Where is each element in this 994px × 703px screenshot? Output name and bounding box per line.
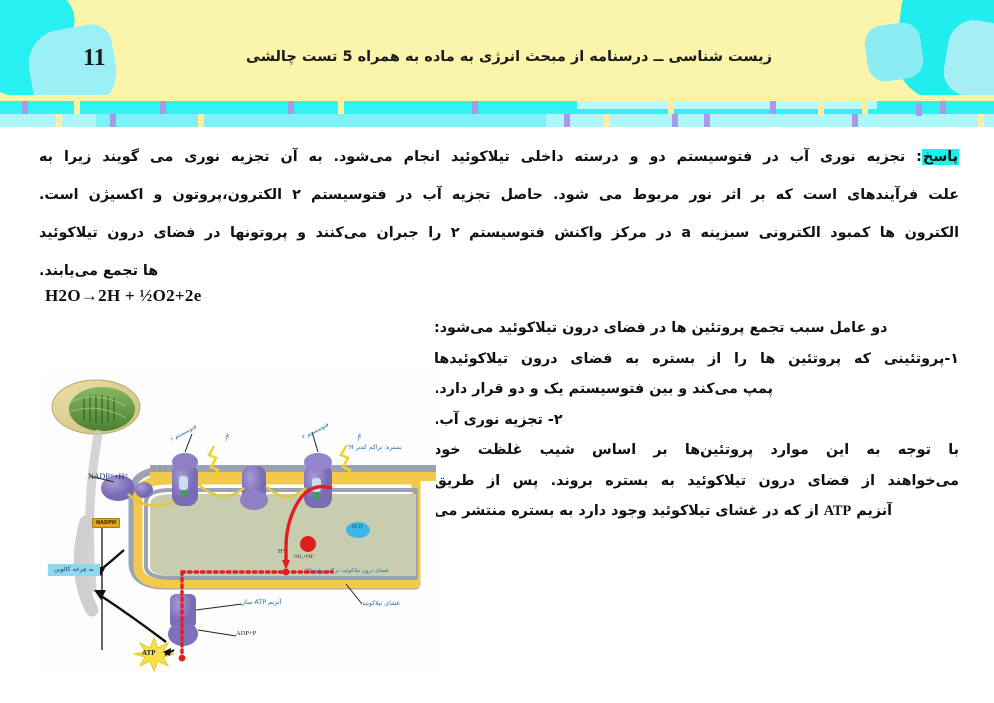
thylakoid-membrane-label: غشای تیلاکوئید — [362, 600, 400, 607]
answer-line-2: علت فرآیندهای است که بر اثر نور مربوط می… — [39, 176, 959, 214]
band-tick — [770, 101, 776, 114]
page-title: زیست شناسی ــ درسنامه از مبحث انرژی به م… — [229, 49, 789, 65]
thylakoid-diagram: NADP⁺+H⁺ NADPH به چرخه کالوین فتوسیستم ۱… — [46, 372, 436, 672]
cytochrome-complex — [240, 466, 268, 510]
stroma-label: بستره: تراکم کمتر H⁺ — [346, 444, 402, 451]
body-line-3: پمپ می‌کند و بین فتوسیستم یک و دو قرار د… — [434, 374, 959, 405]
decorative-shape-lightcyan-right-small — [862, 20, 925, 83]
chemical-equation: H2O→2H + ½O2+2e — [45, 286, 202, 306]
band-tick — [110, 114, 116, 127]
body-line-2: ۱-پروتئینی که پروتئین ها را از بستره به … — [434, 344, 959, 375]
body-line-4: ۲- تجزیه نوری آب. — [434, 405, 959, 436]
body-line-7: آنزیم ATP از که در غشای تیلاکوئید وجود د… — [434, 496, 959, 527]
band-tick — [818, 103, 824, 116]
answer-line-4: ها تجمع می‌یابند. — [39, 252, 959, 290]
nadph-label: NADPH — [92, 518, 120, 528]
answer-line-3: الکترون ها کمبود الکترونی سبزینه a در مر… — [39, 214, 959, 252]
band-tick — [852, 114, 858, 127]
atp-synthase-label: آنزیم ATP ساز — [242, 598, 281, 606]
band-tick — [288, 101, 294, 114]
answer-paragraph: پاسخ: تجزیه نوری آب در فتوسیستم دو و درس… — [39, 138, 959, 290]
body-line-1: دو عامل سبب تجمع پروتئین ها در فضای درون… — [434, 313, 959, 344]
atp-token: ATP — [824, 503, 852, 519]
calvin-cycle-box: به چرخه کالوین — [48, 564, 100, 576]
oxygen-marker — [300, 536, 316, 552]
body-line-5: با توجه به این موارد پروتئین‌ها بر اساس … — [434, 435, 959, 466]
band-tick — [198, 114, 204, 127]
band-tick — [672, 114, 678, 127]
band-tick — [604, 114, 610, 127]
atp-label: ATP — [142, 649, 155, 657]
band-tick — [668, 101, 674, 114]
band-tick — [564, 114, 570, 127]
page-header: 11 زیست شناسی ــ درسنامه از مبحث انرژی ب… — [0, 0, 994, 95]
slide-page: 11 زیست شناسی ــ درسنامه از مبحث انرژی ب… — [0, 0, 994, 703]
body-paragraph: دو عامل سبب تجمع پروتئین ها در فضای درون… — [434, 313, 959, 527]
page-number: 11 — [83, 45, 106, 72]
band-tick — [56, 114, 62, 127]
answer-label-highlight: پاسخ — [922, 149, 959, 165]
band-tick — [338, 101, 344, 114]
photosystem-2-complex — [304, 453, 332, 508]
band-tick — [704, 114, 710, 127]
band-tick — [160, 101, 166, 114]
body-line-7-a: آنزیم — [851, 503, 892, 519]
oxygen-label: ½O₂+۲H⁺ — [294, 554, 315, 560]
answer-line-1: پاسخ: تجزیه نوری آب در فتوسیستم دو و درس… — [39, 138, 959, 176]
band-stripe-midcyan — [96, 114, 546, 127]
band-tick — [940, 101, 946, 114]
band-stripe-pale — [577, 101, 877, 109]
decorative-stripe-band — [0, 95, 994, 127]
water-label: H₂O — [352, 524, 363, 530]
band-tick — [916, 103, 922, 116]
lumen-label: فضای درون تیلاکوئید: تراکم بیشتر H⁺ — [304, 568, 388, 574]
band-tick — [978, 114, 984, 127]
band-tick — [74, 101, 80, 114]
h-plus-label: H⁺ — [278, 548, 286, 555]
body-line-7-b: از که در غشای تیلاکوئید وجود دارد به بست… — [434, 503, 824, 519]
body-line-6: می‌خواهند از فضای درون تیلاکوئید به بستر… — [434, 466, 959, 497]
band-tick — [472, 101, 478, 114]
adp-p-label: ADP+P — [236, 630, 256, 637]
chloroplast-illustration — [52, 380, 140, 434]
ferredoxin — [135, 482, 153, 498]
nadp-label: NADP⁺+H⁺ — [88, 472, 129, 481]
band-tick — [862, 101, 868, 114]
photosystem-1-complex — [172, 453, 198, 506]
band-tick — [22, 101, 28, 114]
answer-line-1-text: : تجزیه نوری آب در فتوسیستم دو و درسته د… — [39, 149, 922, 165]
